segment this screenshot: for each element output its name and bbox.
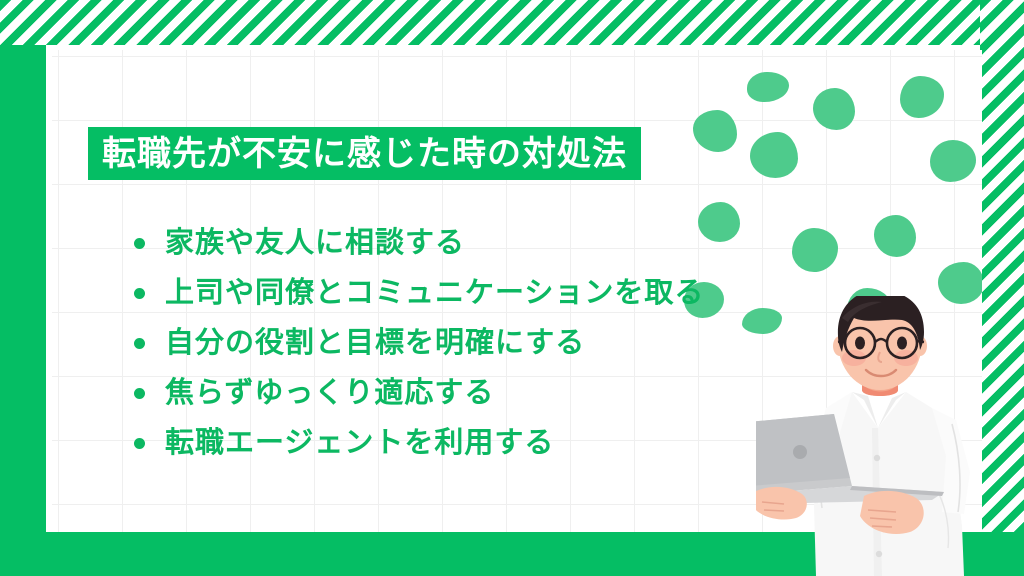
decor-blob [900,76,944,118]
person-with-laptop-illustration [756,296,1024,576]
list-item-label: 転職エージェントを利用する [165,429,554,458]
bullet-dot-icon [134,288,145,299]
decor-blob [693,110,737,152]
decor-blob [874,215,916,257]
slide-canvas: 転職先が不安に感じた時の対処法 家族や友人に相談する 上司や同僚とコミュニケーシ… [0,0,1024,576]
decor-blob [792,228,838,272]
decor-blob [813,88,855,130]
bullet-dot-icon [134,438,145,449]
decor-blob [930,140,976,182]
list-item-label: 焦らずゆっくり適応する [165,379,494,408]
list-item: 家族や友人に相談する [134,218,704,268]
list-item-label: 家族や友人に相談する [165,229,465,258]
bullet-dot-icon [134,238,145,249]
bullet-list: 家族や友人に相談する 上司や同僚とコミュニケーションを取る 自分の役割と目標を明… [134,218,704,468]
page-title-label: 転職先が不安に感じた時の対処法 [102,137,627,171]
bullet-dot-icon [134,388,145,399]
bullet-dot-icon [134,338,145,349]
list-item: 上司や同僚とコミュニケーションを取る [134,268,704,318]
list-item-label: 上司や同僚とコミュニケーションを取る [165,279,704,308]
list-item-label: 自分の役割と目標を明確にする [165,329,585,358]
list-item: 転職エージェントを利用する [134,418,704,468]
solid-bar-left [0,0,46,535]
face [833,296,927,390]
list-item: 焦らずゆっくり適応する [134,368,704,418]
diagonal-stripe-band-top [0,0,1024,45]
decor-blob [747,72,789,102]
page-title: 転職先が不安に感じた時の対処法 [88,127,641,180]
list-item: 自分の役割と目標を明確にする [134,318,704,368]
decor-blob [750,132,798,178]
